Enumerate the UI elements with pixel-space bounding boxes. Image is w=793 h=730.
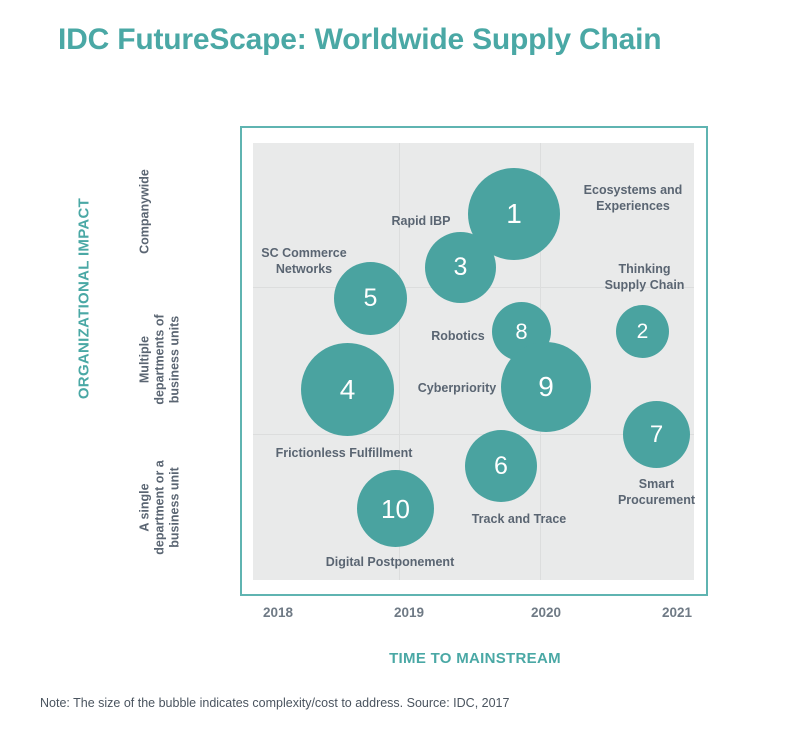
bubble-label-rapid-ibp: Rapid IBP [366, 213, 476, 229]
bubble-4-number: 4 [340, 376, 356, 404]
page-title: IDC FutureScape: Worldwide Supply Chain [58, 18, 758, 62]
bubble-10[interactable]: 10 [357, 470, 434, 547]
y-axis-title: ORGANIZATIONAL IMPACT [76, 189, 93, 409]
bubble-label-track-and-trace: Track and Trace [454, 511, 584, 527]
bubble-label-smart-procurement: Smart Procurement [609, 476, 704, 508]
bubble-label-sc-commerce-networks: SC Commerce Networks [249, 245, 359, 277]
bubble-label-cyberpriority: Cyberpriority [409, 380, 505, 396]
bubble-6-number: 6 [494, 454, 508, 479]
bubble-4[interactable]: 4 [301, 343, 394, 436]
footnote-note: Note: The size of the bubble indicates c… [40, 696, 509, 710]
bubble-5-number: 5 [364, 286, 378, 311]
bubble-9-number: 9 [538, 373, 554, 401]
bubble-7[interactable]: 7 [623, 401, 690, 468]
bubble-3-number: 3 [454, 255, 468, 280]
bubble-6[interactable]: 6 [465, 430, 537, 502]
bubble-label-ecosystems-and-experiences: Ecosystems and Experiences [563, 182, 703, 214]
x-axis-tick-2018: 2018 [238, 605, 318, 620]
bubble-2-number: 2 [637, 321, 649, 342]
bubble-label-digital-postponement: Digital Postponement [310, 554, 470, 570]
bubble-label-robotics: Robotics [422, 328, 494, 344]
bubble-2[interactable]: 2 [616, 305, 669, 358]
bubble-3[interactable]: 3 [425, 232, 496, 303]
x-axis-title: TIME TO MAINSTREAM [240, 650, 710, 667]
y-axis-tick-multiple-departments: Multiple departments of business units [138, 280, 183, 440]
x-axis-tick-2019: 2019 [369, 605, 449, 620]
y-axis-tick-single-department: A single department or a business unit [138, 423, 183, 593]
bubble-1-number: 1 [506, 200, 522, 228]
bubble-9[interactable]: 9 [501, 342, 591, 432]
x-axis-tick-2020: 2020 [506, 605, 586, 620]
y-axis-tick-companywide: Companywide [138, 142, 153, 282]
x-axis-tick-2021: 2021 [637, 605, 717, 620]
bubble-7-number: 7 [650, 423, 663, 447]
bubble-8-number: 8 [515, 321, 527, 343]
bubble-10-number: 10 [381, 496, 410, 522]
bubble-label-frictionless-fulfillment: Frictionless Fulfillment [264, 445, 424, 461]
bubble-label-thinking-supply-chain: Thinking Supply Chain [587, 261, 702, 293]
